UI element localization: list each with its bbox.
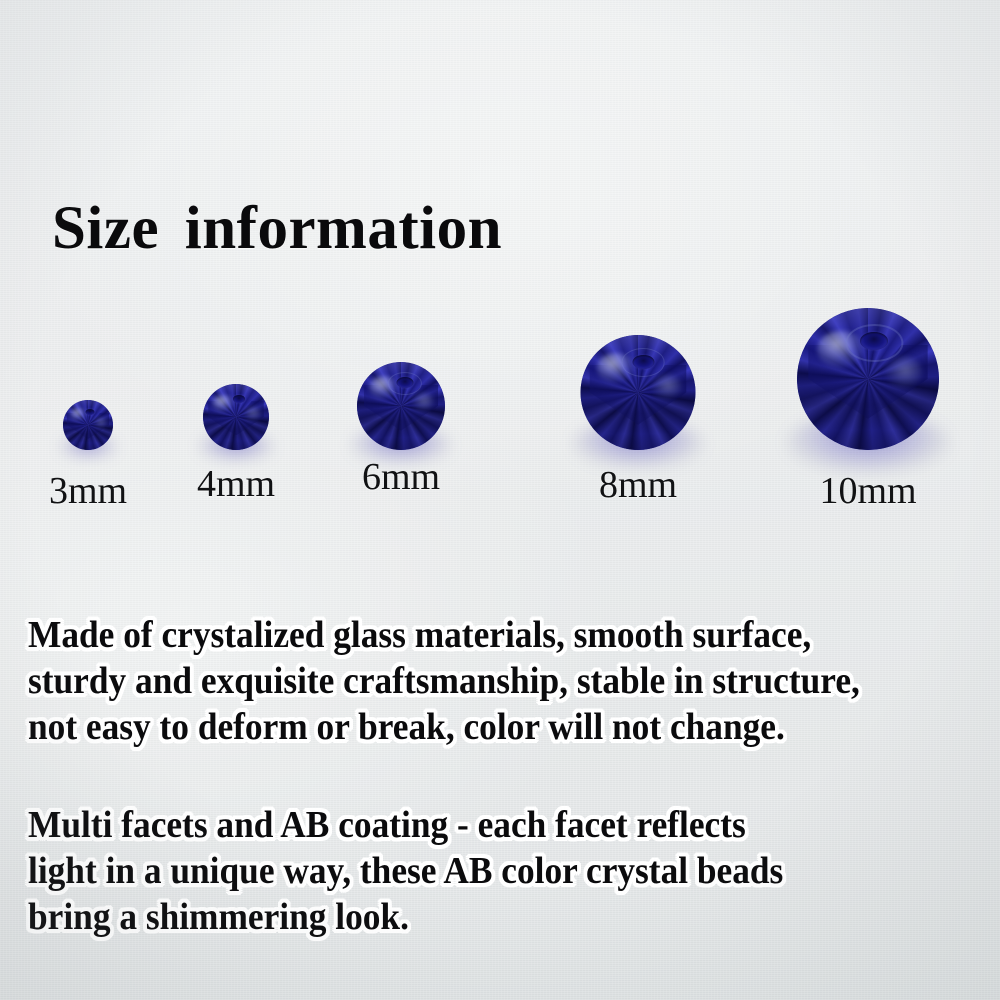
- description-line: bring a shimmering look.: [28, 894, 906, 940]
- bead-size-label: 10mm: [819, 472, 916, 510]
- bead-size-label: 4mm: [197, 465, 275, 503]
- description-line: Made of crystalized glass materials, smo…: [28, 612, 906, 658]
- bead-sample: 8mm: [558, 330, 718, 520]
- faceted-crystal-bead: [797, 308, 939, 450]
- description-paragraph: Made of crystalized glass materials, smo…: [28, 612, 972, 750]
- bead-body: [797, 308, 939, 450]
- bead-sample: 4mm: [156, 330, 316, 520]
- description-line: not easy to deform or break, color will …: [28, 704, 906, 750]
- bead-size-comparison-row: 3mm4mm6mm8mm10mm: [0, 330, 1000, 520]
- bead-rim-shading: [581, 335, 696, 450]
- faceted-crystal-bead: [357, 362, 445, 450]
- bead-drill-hole: [233, 395, 245, 403]
- bead-body: [357, 362, 445, 450]
- faceted-crystal-bead: [581, 335, 696, 450]
- description-line: sturdy and exquisite craftsmanship, stab…: [28, 658, 906, 704]
- bead-drill-hole: [396, 377, 413, 388]
- bead-body: [581, 335, 696, 450]
- bead-rim-shading: [357, 362, 445, 450]
- bead-size-label: 6mm: [362, 458, 440, 496]
- faceted-crystal-bead: [63, 400, 113, 450]
- bead-sample: 6mm: [321, 330, 481, 520]
- bead-body: [203, 384, 269, 450]
- product-description: Made of crystalized glass materials, smo…: [28, 612, 972, 940]
- bead-sample: 10mm: [788, 330, 948, 520]
- bead-drill-hole: [860, 332, 888, 350]
- bead-rim-shading: [203, 384, 269, 450]
- bead-body: [63, 400, 113, 450]
- bead-drill-hole: [632, 355, 654, 369]
- description-line: light in a unique way, these AB color cr…: [28, 848, 906, 894]
- faceted-crystal-bead: [203, 384, 269, 450]
- bead-size-label: 8mm: [599, 466, 677, 504]
- description-paragraph: Multi facets and AB coating - each facet…: [28, 802, 972, 940]
- bead-sample: 3mm: [8, 330, 168, 520]
- bead-drill-hole: [86, 409, 95, 415]
- page-title: Size information: [52, 197, 502, 261]
- bead-rim-shading: [797, 308, 939, 450]
- bead-size-label: 3mm: [49, 472, 127, 510]
- description-line: Multi facets and AB coating - each facet…: [28, 802, 906, 848]
- bead-rim-shading: [63, 400, 113, 450]
- infographic-canvas: Size information 3mm4mm6mm8mm10mm Made o…: [0, 0, 1000, 1000]
